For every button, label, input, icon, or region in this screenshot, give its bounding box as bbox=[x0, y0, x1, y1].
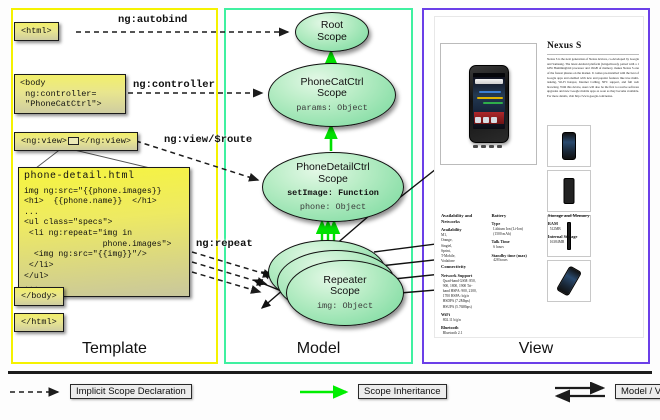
code-ngview-tag: <ng:view></ng:view> bbox=[14, 132, 138, 151]
diagram-canvas: Template Model View bbox=[0, 0, 660, 420]
scope-phonecatctrl-line2: Scope bbox=[317, 88, 347, 100]
legend-item-implicit-scope-declaration: Implicit Scope Declaration bbox=[8, 382, 68, 404]
label-ng-autobind: ng:autobind bbox=[118, 14, 187, 26]
scope-phonecatctrl: PhoneCatCtrl Scope params: Object bbox=[268, 63, 396, 127]
legend-item-model-view-data-binding: Model / View Data-binding bbox=[553, 382, 613, 404]
spec-values-talk-time: 6 hours bbox=[491, 245, 543, 250]
spec-values-battery-type: Lithium Ion (Li-Ion) (1500 mAh) bbox=[491, 227, 543, 237]
phone-wallpaper-lines bbox=[477, 89, 501, 109]
scope-root: Root Scope bbox=[295, 12, 369, 52]
legend-item-scope-inheritance: Scope Inheritance bbox=[298, 382, 356, 404]
product-title: Nexus S bbox=[547, 41, 582, 51]
code-html-open-tag: <html> bbox=[14, 22, 59, 41]
legend-double-arrow-icon bbox=[553, 382, 613, 404]
scope-phonedetailctrl-member-setimage: setImage: Function bbox=[287, 188, 379, 198]
legend-label-scope-inheritance: Scope Inheritance bbox=[358, 384, 447, 399]
label-ng-repeat: ng:repeat bbox=[196, 238, 253, 250]
scope-phonecatctrl-member-params: params: Object bbox=[296, 103, 367, 113]
title-divider bbox=[547, 54, 639, 55]
scope-phonedetailctrl: PhoneDetailCtrl Scope setImage: Function… bbox=[262, 152, 404, 222]
code-html-close-tag: </html> bbox=[14, 313, 64, 332]
phone-hardware-buttons bbox=[472, 136, 506, 141]
legend-label-implicit-scope-declaration: Implicit Scope Declaration bbox=[70, 384, 192, 399]
spec-header-storage: Storage and Memory bbox=[548, 213, 596, 219]
scope-repeater: Repeater Scope img: Object bbox=[286, 260, 404, 326]
product-description: Nexus S is the next generation of Nexus … bbox=[547, 57, 639, 119]
phone-statusbar bbox=[473, 73, 505, 77]
code-phone-detail-partial: phone-detail.htmlimg ng:src="{{phone.ima… bbox=[18, 167, 190, 297]
ngview-placeholder-icon bbox=[68, 137, 79, 145]
label-ng-controller: ng:controller bbox=[133, 79, 215, 91]
spec-column-connectivity: Connectivity Network Support Quad-band G… bbox=[441, 264, 489, 338]
phone-searchbar bbox=[475, 79, 503, 84]
spec-column-storage: Storage and Memory RAM 512MB Internal St… bbox=[548, 213, 596, 245]
ngview-open-text: <ng:view> bbox=[21, 136, 67, 146]
spec-values-bluetooth: Bluetooth 2.1 bbox=[441, 331, 489, 336]
phone-screen bbox=[473, 73, 505, 129]
spec-values-wifi: 802.11 b/g/n bbox=[441, 318, 489, 323]
legend-green-arrow-icon bbox=[298, 382, 356, 404]
scope-repeater-member-img: img: Object bbox=[317, 301, 373, 311]
spec-values-ram: 512MB bbox=[548, 227, 596, 232]
rendered-app-page: Nexus S Nexus S is the next generation o… bbox=[434, 16, 644, 338]
spec-table: Availability and Networks Availability M… bbox=[441, 213, 639, 338]
legend: Implicit Scope Declaration Scope Inherit… bbox=[8, 382, 652, 410]
partial-filename: phone-detail.html bbox=[24, 171, 184, 184]
partial-code: img ng:src="{{phone.images}} <h1> {{phon… bbox=[24, 187, 184, 294]
panel-template-label: Template bbox=[13, 340, 216, 358]
spec-header-availability: Availability and Networks bbox=[441, 213, 487, 225]
spec-values-network-support: Quad-band GSM: 850, 900, 1800, 1900 Tri-… bbox=[441, 279, 489, 310]
ngview-close-text: </ng:view> bbox=[80, 136, 131, 146]
code-body-open-tag: <body ng:controller= "PhoneCatCtrl"> bbox=[14, 74, 126, 114]
phone-hero-image bbox=[469, 65, 509, 143]
scope-repeater-line2: Scope bbox=[330, 286, 360, 298]
hero-image-frame bbox=[440, 43, 537, 165]
thumbnail-phone-back[interactable] bbox=[547, 170, 591, 212]
scope-root-line2: Scope bbox=[317, 32, 347, 44]
spec-column-availability: Availability and Networks Availability M… bbox=[441, 213, 487, 264]
spec-values-internal-storage: 16384MB bbox=[548, 240, 596, 245]
spec-header-connectivity: Connectivity bbox=[441, 264, 489, 270]
spec-values-availability: M1,Orange,Singtel,Sprint,T-Mobile,Vodafo… bbox=[441, 233, 487, 264]
phone-app-dock bbox=[474, 112, 504, 124]
label-ng-view-route: ng:view/$route bbox=[164, 134, 252, 146]
code-body-close-tag: </body> bbox=[14, 287, 64, 306]
panel-view-label: View bbox=[424, 340, 648, 358]
spec-header-battery: Battery bbox=[491, 213, 543, 219]
thumbnail-phone-front-screen[interactable] bbox=[547, 125, 591, 167]
legend-divider bbox=[8, 371, 652, 374]
scope-phonedetailctrl-member-phone: phone: Object bbox=[300, 202, 366, 212]
spec-values-standby: 428 hours bbox=[491, 258, 543, 263]
legend-label-model-view-data-binding: Model / View Data-binding bbox=[615, 384, 660, 399]
scope-phonedetailctrl-line2: Scope bbox=[318, 174, 348, 186]
legend-dashed-arrow-icon bbox=[8, 382, 68, 404]
spec-column-battery: Battery Type Lithium Ion (Li-Ion) (1500 … bbox=[491, 213, 543, 264]
panel-model-label: Model bbox=[226, 340, 411, 358]
